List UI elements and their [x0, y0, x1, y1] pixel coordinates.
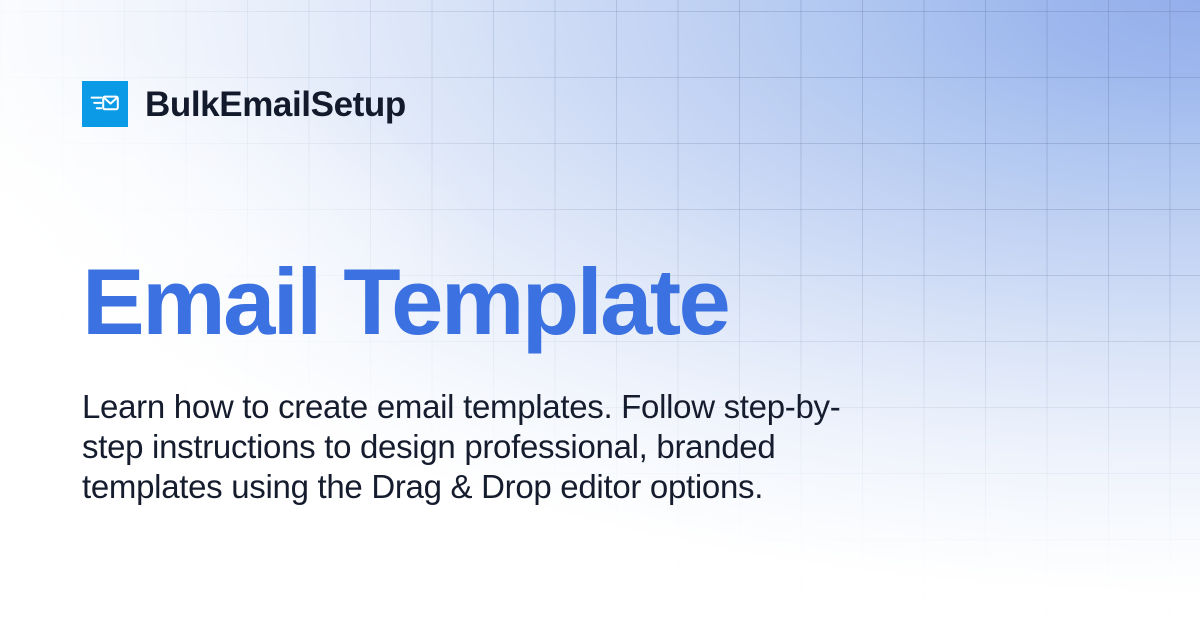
page-description: Learn how to create email templates. Fol… [82, 387, 852, 507]
og-banner: BulkEmailSetup Email Template Learn how … [0, 0, 1200, 630]
brand-lockup[interactable]: BulkEmailSetup [82, 81, 406, 127]
page-title: Email Template [82, 255, 728, 349]
brand-name: BulkEmailSetup [145, 87, 406, 122]
banner-content: BulkEmailSetup Email Template Learn how … [0, 0, 1200, 630]
envelope-speed-icon [82, 81, 128, 127]
